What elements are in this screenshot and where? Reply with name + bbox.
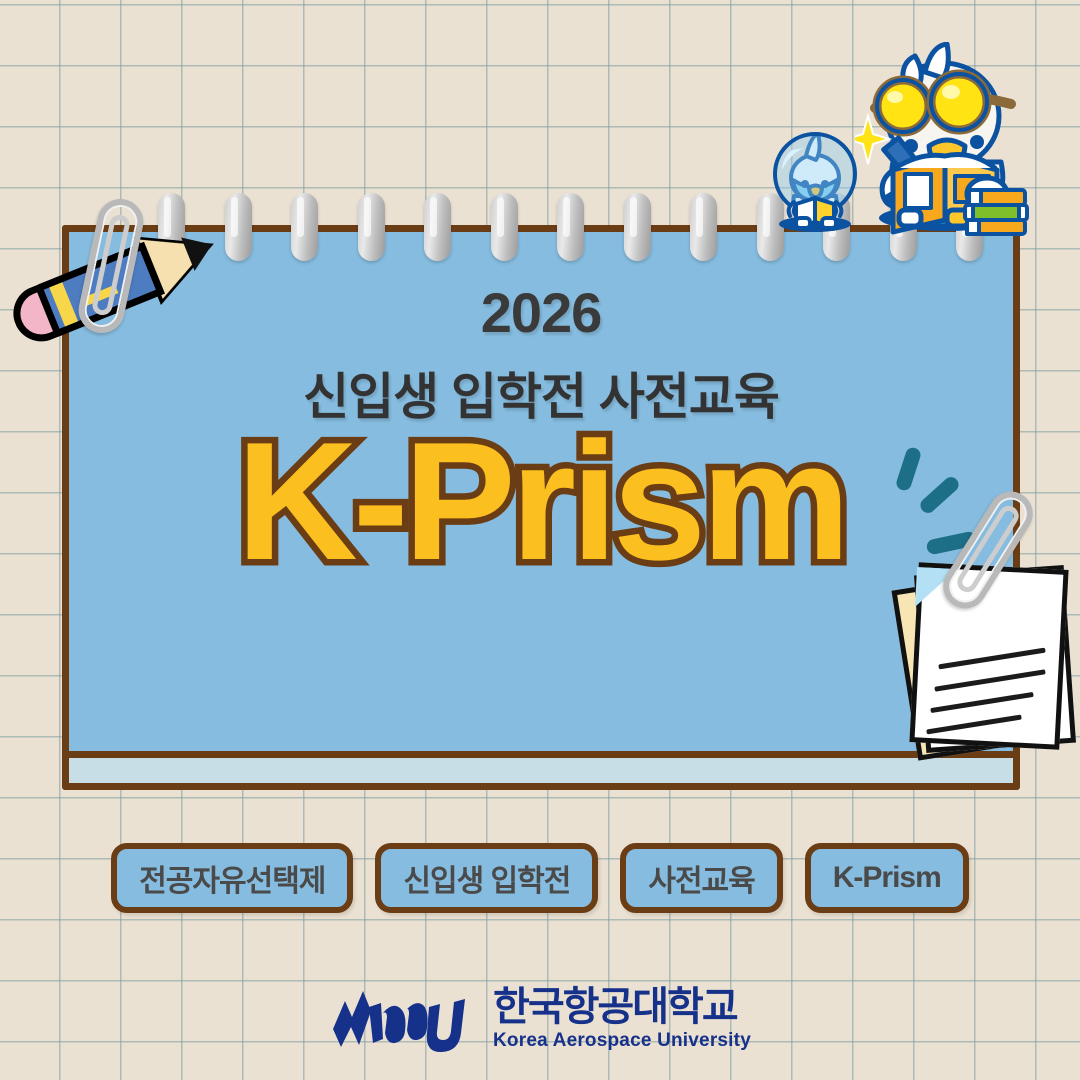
tag-label: 신입생 입학전 [403,856,570,900]
spiral-ring [225,193,252,261]
tag-list: 전공자유선택제신입생 입학전사전교육K-Prism [0,843,1080,913]
spiral-ring [557,193,584,261]
university-logo: 한국항공대학교 Korea Aerospace University [0,983,1080,1055]
tag-pill[interactable]: 전공자유선택제 [111,843,353,913]
spiral-ring [291,193,318,261]
university-name-korean: 한국항공대학교 [493,987,737,1027]
spiral-ring [358,193,385,261]
university-name-english: Korea Aerospace University [493,1030,751,1052]
tag-pill[interactable]: K-Prism [805,843,969,913]
tag-label: 전공자유선택제 [139,856,325,900]
poster-logotype: K-Prism [69,417,1013,585]
spiral-ring [624,193,651,261]
tag-pill[interactable]: 신입생 입학전 [375,843,598,913]
bird-mascot-helmet-reading-icon [766,126,864,236]
tag-label: K-Prism [833,861,941,895]
tag-label: 사전교육 [648,856,754,900]
spiral-ring [690,193,717,261]
tag-pill[interactable]: 사전교육 [620,843,782,913]
kau-wordmark-icon [329,983,479,1055]
bird-mascot-goggles-reading-icon [855,42,1035,237]
spiral-ring [491,193,518,261]
spiral-ring [424,193,451,261]
